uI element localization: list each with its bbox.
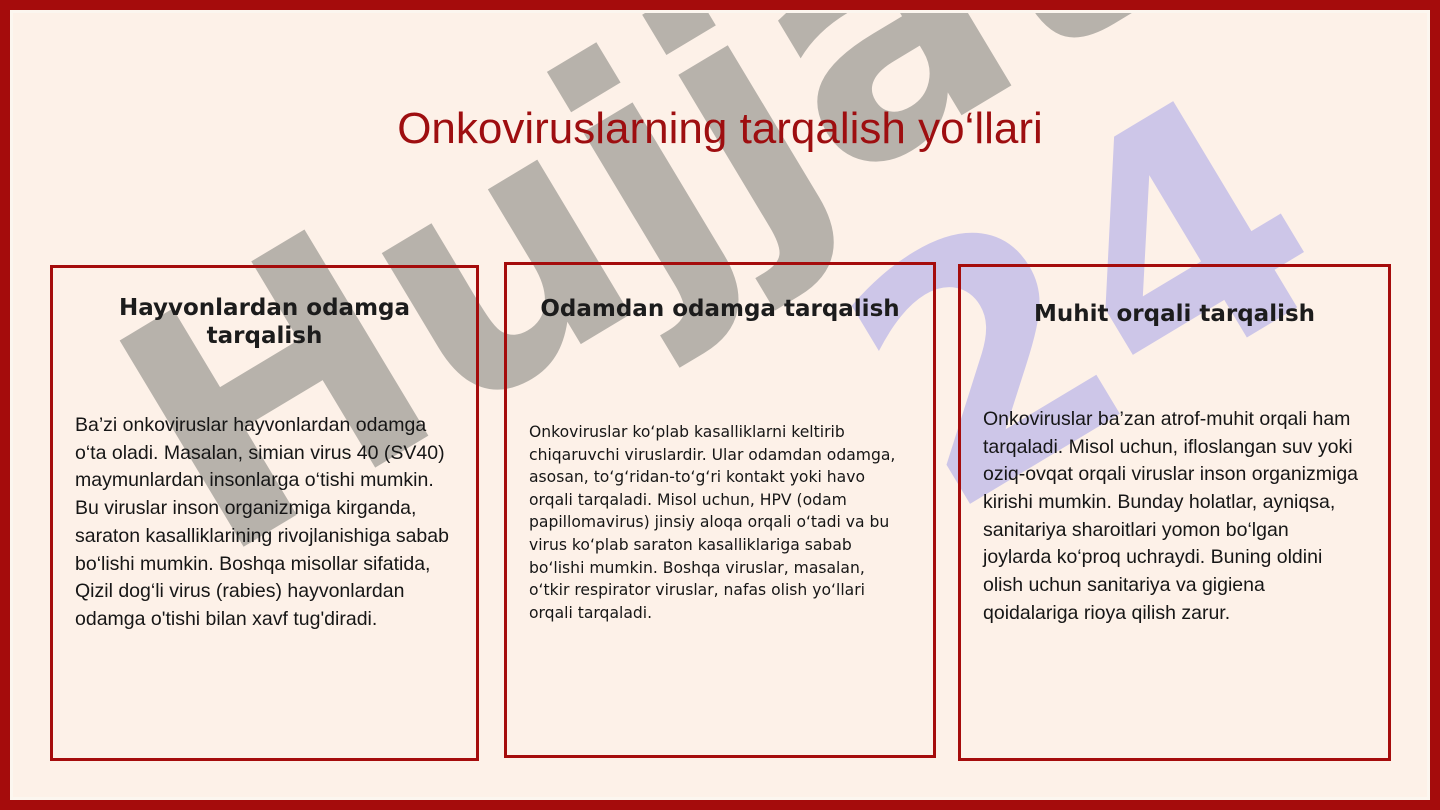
card-title: Odamdan odamga tarqalish: [529, 295, 911, 323]
card-muhit-orqali: Muhit orqali tarqalish Onkoviruslar ba’z…: [958, 264, 1391, 761]
card-hayvonlardan-odamga: Hayvonlardan odamga tarqalish Ba’zi onko…: [50, 265, 479, 761]
card-body: Onkoviruslar ko‘plab kasalliklarni kelti…: [529, 421, 911, 624]
card-body: Onkoviruslar ba’zan atrof-muhit orqali h…: [983, 406, 1366, 628]
slide-canvas: Hujjat 24 Onkoviruslarning tarqalish yo‘…: [0, 0, 1440, 810]
card-odamdan-odamga: Odamdan odamga tarqalish Onkoviruslar ko…: [504, 262, 936, 758]
card-title: Hayvonlardan odamga tarqalish: [75, 294, 454, 350]
card-body: Ba’zi onkoviruslar hayvonlardan odamga o…: [75, 412, 454, 634]
card-title: Muhit orqali tarqalish: [983, 300, 1366, 328]
page-title: Onkoviruslarning tarqalish yo‘llari: [0, 104, 1440, 154]
